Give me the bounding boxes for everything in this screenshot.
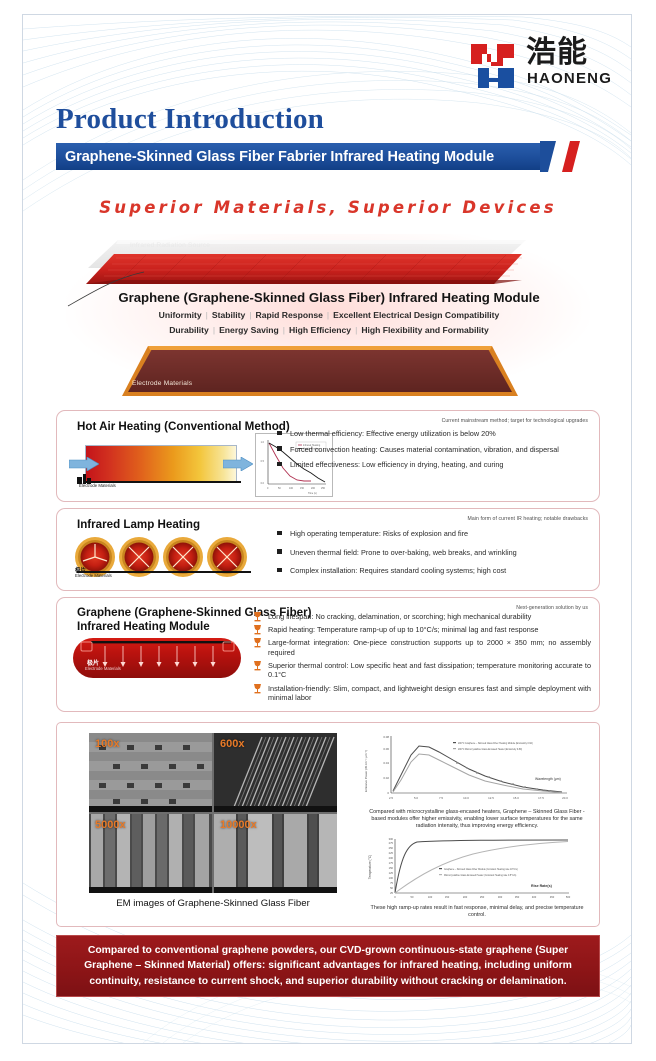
svg-text:250: 250 [321, 487, 326, 490]
bullet-item: Low thermal efficiency: Effective energy… [277, 429, 589, 439]
hero-feature-row-2: Durability|Energy Saving|High Efficiency… [84, 323, 574, 338]
hero-title: Graphene (Graphene-Skinned Glass Fiber) … [94, 290, 564, 305]
svg-text:200: 200 [389, 856, 394, 860]
ramp-up-rate-chart: 25 50 75 100 125 150 175 200 225 250 275… [357, 835, 597, 923]
bullet-text: Uneven thermal field: Prone to over-baki… [290, 548, 517, 557]
trophy-icon [252, 611, 263, 622]
emissivity-chart-caption: Compared with microcrystalline glass-enc… [363, 809, 591, 830]
svg-text:200°C Graphene – Skinned Glass: 200°C Graphene – Skinned Glass Fiber Hea… [458, 742, 533, 745]
svg-text:150: 150 [389, 866, 394, 870]
logo-english-text: HAONENG [527, 71, 612, 87]
sem-image-100x: 100x [89, 733, 212, 812]
tagline: Superior Materials, Superior Devices [0, 198, 656, 217]
svg-text:450: 450 [550, 895, 555, 899]
svg-text:0.04: 0.04 [383, 761, 389, 765]
emissivity-spectrum-chart: 0 0.02 0.04 0.06 0.08 2.5 5.0 7.5 10.0 1… [357, 731, 597, 831]
svg-text:Rise Rate(s): Rise Rate(s) [531, 884, 553, 888]
panel-graphene-module: Graphene (Graphene-Skinned Glass Fiber) … [56, 597, 600, 712]
svg-text:225: 225 [389, 851, 394, 855]
svg-text:5.0: 5.0 [414, 796, 418, 800]
bullet-text: Forced convection heating: Causes materi… [290, 445, 559, 454]
svg-text:0.02: 0.02 [383, 776, 389, 780]
svg-text:12.5: 12.5 [488, 796, 494, 800]
panel-bullet-list: Low thermal efficiency: Effective energy… [277, 429, 589, 476]
svg-text:300: 300 [498, 895, 503, 899]
svg-text:0.08: 0.08 [383, 735, 389, 739]
svg-text:200°C Microcrystalline Glass-E: 200°C Microcrystalline Glass-Encased Hea… [458, 748, 522, 751]
bullet-text: Large-format integration: One-piece cons… [268, 638, 591, 657]
bullet-text: Superior thermal control: Low specific h… [268, 661, 591, 680]
air-outlet-arrow-icon [223, 457, 253, 471]
svg-text:Temperature (°C): Temperature (°C) [368, 855, 372, 879]
sem-image-5000x: 5000x [89, 814, 212, 893]
hero-feature-list: Uniformity|Stability|Rapid Response|Exce… [84, 308, 574, 338]
bullet-text: High operating temperature: Risks of exp… [290, 529, 468, 538]
svg-text:250: 250 [480, 895, 485, 899]
bullet-item: Uneven thermal field: Prone to over-baki… [277, 548, 589, 558]
summary-banner-text: Compared to conventional graphene powder… [57, 943, 599, 990]
svg-text:100: 100 [389, 876, 394, 880]
svg-text:150: 150 [300, 487, 305, 490]
bullet-square-icon [277, 431, 282, 436]
bullet-text: Installation-friendly: Slim, compact, an… [268, 684, 591, 703]
rampup-plot: 25 50 75 100 125 150 175 200 225 250 275… [357, 835, 597, 905]
sem-image-10000x: 10000x [214, 814, 337, 893]
svg-text:150: 150 [445, 895, 450, 899]
bullet-item: Forced convection heating: Causes materi… [277, 445, 589, 455]
sem-and-charts-section: 100x 600x [56, 722, 600, 927]
trophy-icon [252, 624, 263, 635]
hero-diagram: Infrared Radiation Source Electrode Mate… [56, 228, 600, 403]
svg-text:100: 100 [428, 895, 433, 899]
brochure-page: 浩能 HAONENG Product Introduction Graphene… [0, 0, 656, 1061]
panel-note: Main form of current IR heating; notable… [467, 516, 588, 522]
sem-magnification-label: 100x [95, 738, 119, 750]
svg-text:125: 125 [389, 871, 394, 875]
panel-title: Hot Air Heating (Conventional Method) [77, 420, 290, 434]
svg-text:10.0: 10.0 [463, 796, 469, 800]
bullet-square-icon [277, 568, 282, 573]
svg-text:275: 275 [389, 841, 394, 845]
trophy-icon [252, 683, 263, 694]
trophy-icon [252, 660, 263, 671]
svg-text:20.0: 20.0 [562, 796, 568, 800]
svg-text:2.5: 2.5 [389, 796, 393, 800]
rampup-chart-caption: These high ramp-up rates result in fast … [363, 905, 591, 919]
bullet-item: Complex installation: Requires standard … [277, 566, 589, 576]
svg-text:Microcrystalline Glass-Encased: Microcrystalline Glass-Encased Heater (C… [444, 874, 517, 877]
air-inlet-arrow-icon [69, 457, 99, 471]
subtitle-text: Graphene-Skinned Glass Fiber Fabrier Inf… [56, 149, 494, 165]
hero-bottom-layer-label: Electrode Materials [132, 380, 192, 387]
sem-magnification-label: 5000x [95, 819, 126, 831]
bullet-item: Long lifespan: No cracking, delamination… [253, 612, 591, 622]
company-logo: 浩能 HAONENG [470, 36, 620, 98]
panel-note: Current mainstream method; target for te… [442, 418, 588, 424]
bullet-item: Large-format integration: One-piece cons… [253, 638, 591, 657]
svg-text:Emissive Power (W cm⁻² μm⁻¹): Emissive Power (W cm⁻² μm⁻¹) [364, 750, 368, 792]
bullet-square-icon [277, 531, 282, 536]
hero-top-layer-label: Infrared Radiation Source [130, 242, 210, 249]
electrode-label: Electrode Materials [75, 573, 112, 578]
svg-text:Time (s): Time (s) [308, 492, 317, 495]
panel-hot-air-heating: Hot Air Heating (Conventional Method) Cu… [56, 410, 600, 502]
svg-text:7.5: 7.5 [439, 796, 443, 800]
trophy-icon [252, 637, 263, 648]
hero-feature-row-1: Uniformity|Stability|Rapid Response|Exce… [84, 308, 574, 323]
bullet-item: High operating temperature: Risks of exp… [277, 529, 589, 539]
electrode-label: Electrode Materials [85, 666, 121, 671]
svg-text:250: 250 [389, 846, 394, 850]
bullet-item: Installation-friendly: Slim, compact, an… [253, 684, 591, 703]
svg-text:200: 200 [463, 895, 468, 899]
title-flag-icon [540, 141, 584, 172]
sem-caption: EM images of Graphene-Skinned Glass Fibe… [89, 898, 337, 909]
page-title: Product Introduction [56, 103, 324, 136]
bullet-text: Limited effectiveness: Low efficiency in… [290, 460, 504, 469]
graphene-module-illustration: 极片 Electrode Materials [73, 636, 243, 684]
panel-infrared-lamp-heating: Infrared Lamp Heating Main form of curre… [56, 508, 600, 591]
logo-chinese-text: 浩能 [526, 36, 588, 70]
svg-text:15.0: 15.0 [513, 796, 519, 800]
panel-bullet-list: Long lifespan: No cracking, delamination… [253, 612, 591, 706]
bullet-item: Limited effectiveness: Low efficiency in… [277, 460, 589, 470]
svg-text:Wavelength (μm): Wavelength (μm) [535, 777, 561, 781]
svg-text:500: 500 [566, 895, 571, 899]
svg-text:350: 350 [515, 895, 520, 899]
svg-text:0.06: 0.06 [383, 747, 389, 751]
sem-magnification-label: 600x [220, 738, 244, 750]
bullet-item: Superior thermal control: Low specific h… [253, 661, 591, 680]
sem-magnification-label: 10000x [220, 819, 257, 831]
sem-image-600x: 600x [214, 733, 337, 812]
sem-image-grid: 100x 600x [89, 733, 337, 893]
subtitle-bar: Graphene-Skinned Glass Fiber Fabrier Inf… [56, 143, 544, 170]
bullet-square-icon [277, 446, 282, 451]
bullet-text: Rapid heating: Temperature ramp-up of up… [268, 625, 538, 634]
summary-banner: Compared to conventional graphene powder… [56, 935, 600, 997]
bullet-text: Long lifespan: No cracking, delamination… [268, 612, 531, 621]
bullet-square-icon [277, 549, 282, 554]
svg-text:300: 300 [389, 837, 394, 841]
hot-air-illustration: Electrode Materials [75, 441, 249, 491]
heat-gradient-bar [85, 445, 237, 483]
haoneng-h-mark-icon [470, 42, 522, 90]
panel-title: Infrared Lamp Heating [77, 518, 200, 532]
bullet-item: Rapid heating: Temperature ramp-up of up… [253, 625, 591, 635]
panel-note: Next-generation solution by us [516, 605, 588, 611]
panel-bullet-list: High operating temperature: Risks of exp… [277, 529, 589, 585]
lamp-illustration: 极片 Electrode Materials [73, 535, 253, 585]
svg-text:17.5: 17.5 [538, 796, 544, 800]
svg-text:175: 175 [389, 861, 394, 865]
svg-text:400: 400 [532, 895, 537, 899]
svg-text:100: 100 [289, 487, 294, 490]
emissivity-plot: 0 0.02 0.04 0.06 0.08 2.5 5.0 7.5 10.0 1… [357, 731, 597, 809]
svg-text:Graphene – Skinned Glass Fiber: Graphene – Skinned Glass Fiber Module (C… [444, 868, 518, 871]
bullet-text: Low thermal efficiency: Effective energy… [290, 429, 496, 438]
electrode-label: Electrode Materials [79, 483, 116, 488]
svg-text:200: 200 [311, 487, 316, 490]
bullet-square-icon [277, 462, 282, 467]
bullet-text: Complex installation: Requires standard … [290, 566, 506, 575]
